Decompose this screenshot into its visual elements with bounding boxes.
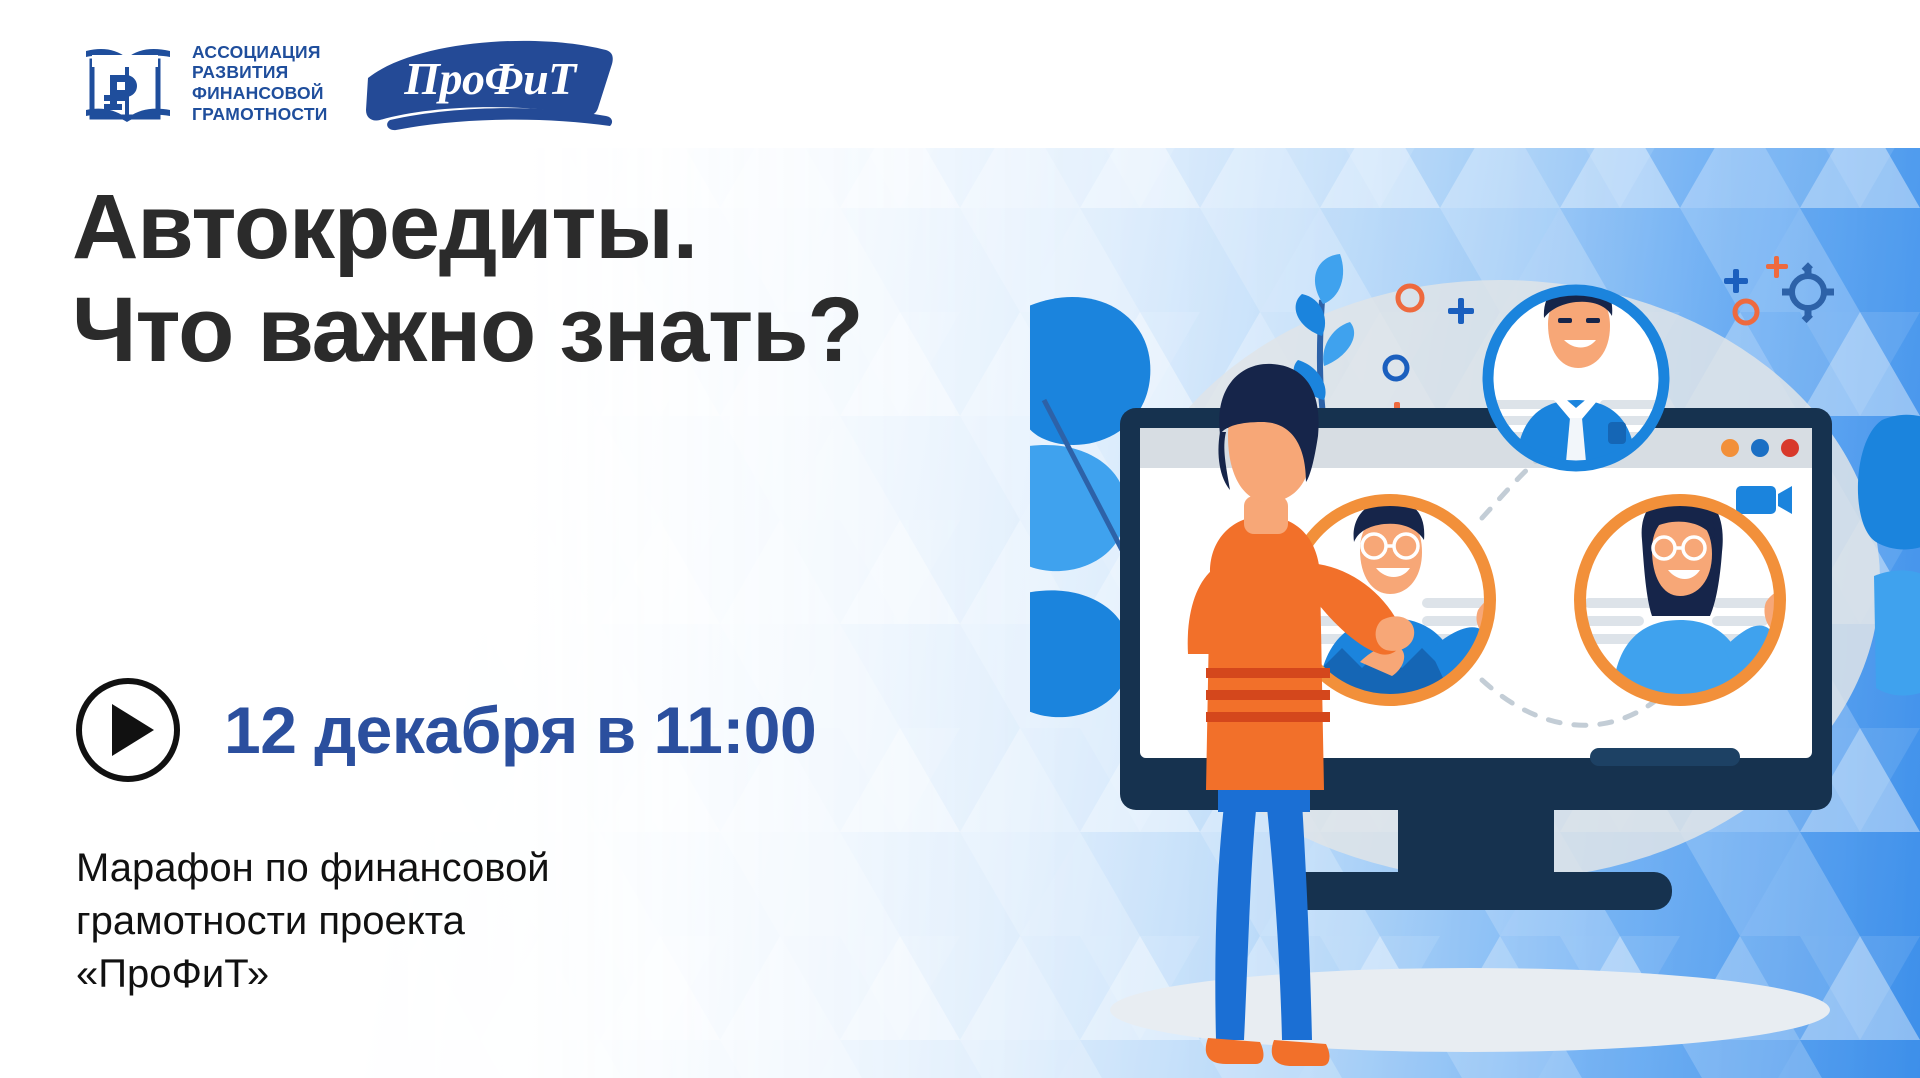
page-title: Автокредиты. Что важно знать? bbox=[72, 176, 862, 382]
event-description: Марафон по финансовой грамотности проект… bbox=[76, 842, 550, 1000]
gear-icon bbox=[1782, 262, 1834, 323]
header-bar: АССОЦИАЦИЯ РАЗВИТИЯ ФИНАНСОВОЙ ГРАМОТНОС… bbox=[0, 0, 1920, 148]
play-triangle-icon bbox=[112, 704, 154, 756]
headline-line-2: Что важно знать? bbox=[72, 279, 862, 382]
window-dot-blue bbox=[1751, 439, 1769, 457]
event-datetime: 12 декабря в 11:00 bbox=[224, 692, 816, 768]
book-ruble-icon bbox=[80, 43, 176, 123]
video-conference-illustration bbox=[1030, 250, 1920, 1078]
profit-logo[interactable]: ПроФиТ bbox=[362, 34, 620, 132]
window-dot-orange bbox=[1721, 439, 1739, 457]
svg-text:ПроФиТ: ПроФиТ bbox=[403, 53, 578, 104]
window-dot-red bbox=[1781, 439, 1799, 457]
banner-stage: АССОЦИАЦИЯ РАЗВИТИЯ ФИНАНСОВОЙ ГРАМОТНОС… bbox=[0, 0, 1920, 1078]
play-icon[interactable] bbox=[76, 678, 180, 782]
headline-line-1: Автокредиты. bbox=[72, 176, 697, 278]
association-logo[interactable]: АССОЦИАЦИЯ РАЗВИТИЯ ФИНАНСОВОЙ ГРАМОТНОС… bbox=[80, 42, 328, 125]
association-logo-text: АССОЦИАЦИЯ РАЗВИТИЯ ФИНАНСОВОЙ ГРАМОТНОС… bbox=[192, 42, 328, 125]
date-row: 12 декабря в 11:00 bbox=[76, 678, 816, 782]
